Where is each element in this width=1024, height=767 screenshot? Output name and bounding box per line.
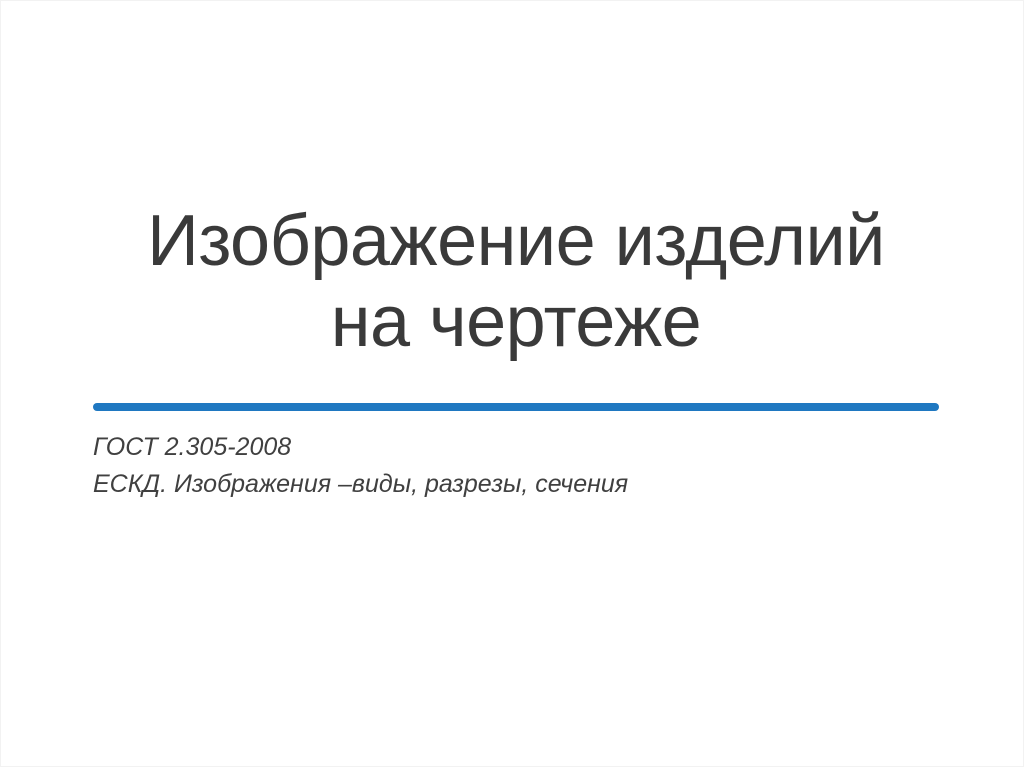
title-accent-divider bbox=[93, 403, 939, 411]
title-line-2: на чертеже bbox=[93, 282, 939, 363]
slide-title: Изображение изделий на чертеже bbox=[93, 201, 939, 362]
subtitle-line-standard-number: ГОСТ 2.305-2008 bbox=[93, 429, 953, 466]
title-line-1: Изображение изделий bbox=[93, 201, 939, 282]
subtitle-line-standard-title: ЕСКД. Изображения –виды, разрезы, сечени… bbox=[93, 466, 953, 503]
presentation-slide: Изображение изделий на чертеже ГОСТ 2.30… bbox=[0, 0, 1024, 767]
slide-subtitle: ГОСТ 2.305-2008 ЕСКД. Изображения –виды,… bbox=[93, 429, 953, 503]
